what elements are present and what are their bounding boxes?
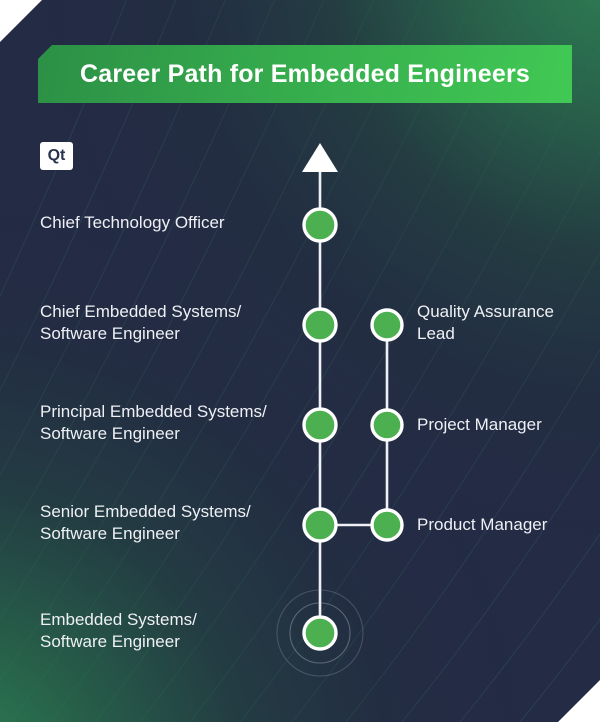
label-chief-technology-officer: Chief Technology Officer [40,212,300,234]
node-embedded-systems-engineer[interactable] [304,617,336,649]
node-principal-embedded-systems-engineer[interactable] [304,409,336,441]
node-project-manager[interactable] [372,410,402,440]
node-chief-technology-officer[interactable] [304,209,336,241]
label-embedded-systems-engineer: Embedded Systems/ Software Engineer [40,609,300,654]
label-chief-embedded-systems-engineer: Chief Embedded Systems/ Software Enginee… [40,301,300,346]
arrow-up-icon [302,143,338,172]
label-senior-embedded-systems-engineer: Senior Embedded Systems/ Software Engine… [40,501,300,546]
node-quality-assurance-lead[interactable] [372,310,402,340]
node-product-manager[interactable] [372,510,402,540]
node-senior-embedded-systems-engineer[interactable] [304,509,336,541]
node-chief-embedded-systems-engineer[interactable] [304,309,336,341]
label-quality-assurance-lead: Quality Assurance Lead [417,301,592,346]
label-product-manager: Product Manager [417,514,592,536]
label-project-manager: Project Manager [417,414,592,436]
infographic-poster: Career Path for Embedded Engineers Qt Ch… [0,0,600,722]
label-principal-embedded-systems-engineer: Principal Embedded Systems/ Software Eng… [40,401,300,446]
